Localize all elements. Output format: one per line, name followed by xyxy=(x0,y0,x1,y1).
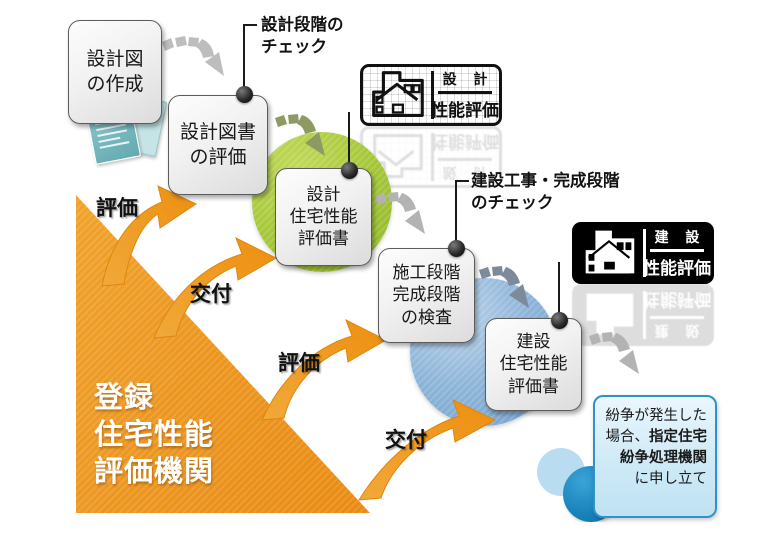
badge-rule xyxy=(438,91,491,94)
flow-label-evaluate-2: 評価 xyxy=(278,347,320,377)
badge-top-text: 建 設 xyxy=(649,321,706,341)
node-label: 設計図 の作成 xyxy=(86,47,143,96)
badge-bottom-text: 性能評価 xyxy=(431,131,499,156)
organization-label: 登録 住宅性能 評価機関 xyxy=(94,379,214,490)
info-line-1: 紛争が発生した xyxy=(603,406,707,427)
flow-label-issue-2: 交付 xyxy=(385,424,427,454)
callout-construction-stage-check: 建設工事・完成段階 のチェック xyxy=(471,170,620,215)
callout-3-leader-horizontal xyxy=(455,180,469,182)
info-line-3: 紛争処理機関 xyxy=(603,448,707,469)
callout-4-dot xyxy=(551,312,568,329)
badge-bottom-text: 性能評価 xyxy=(643,289,711,314)
house-glyph-icon xyxy=(363,67,431,123)
dispute-resolution-info-box: 紛争が発生した 場合、指定住宅 紛争処理機関 に申し立て xyxy=(593,395,717,518)
house-glyph-icon xyxy=(575,225,643,281)
callout-3-dot xyxy=(448,240,465,257)
node-create-drawings[interactable]: 設計図 の作成 xyxy=(68,20,162,124)
flow-arrow-1-icon xyxy=(156,28,230,100)
callout-1-dot xyxy=(236,86,253,103)
construction-performance-badge: 建 設 性能評価 xyxy=(572,222,714,284)
node-label: 建設 住宅性能 評価書 xyxy=(500,331,568,397)
callout-2-dot xyxy=(341,162,358,179)
node-label: 設計 住宅性能 評価書 xyxy=(290,184,358,250)
diagram-canvas: 設 計 性能評価 建 設 性能評価 登録 住宅性能 評価機関 xyxy=(0,0,770,538)
node-evaluate-drawings[interactable]: 設計図書 の評価 xyxy=(168,95,268,195)
badge-rule xyxy=(650,249,703,252)
badge-bottom-text: 性能評価 xyxy=(431,96,499,121)
node-design-certificate[interactable]: 設計 住宅性能 評価書 xyxy=(275,168,372,266)
issue-arrow-2-icon xyxy=(355,398,515,508)
node-label: 設計図書 の評価 xyxy=(180,120,256,169)
flow-arrow-5-icon xyxy=(586,328,652,400)
design-performance-badge: 設 計 性能評価 xyxy=(360,64,502,126)
badge-house-area xyxy=(575,225,643,281)
node-construction-inspection[interactable]: 施工段階 完成段階 の検査 xyxy=(378,248,475,343)
flow-label-issue-1: 交付 xyxy=(190,278,232,308)
info-line-2a: 場合、 xyxy=(606,429,650,445)
badge-top-text: 設 計 xyxy=(437,69,494,89)
badge-bottom-text: 性能評価 xyxy=(643,254,711,279)
info-line-2: 場合、指定住宅 xyxy=(603,427,707,448)
flow-label-evaluate-1: 評価 xyxy=(96,192,138,222)
node-label: 施工段階 完成段階 の検査 xyxy=(393,262,461,328)
callout-design-stage-check: 設計段階の チェック xyxy=(261,14,344,59)
callout-1-leader-vertical xyxy=(243,24,245,94)
info-line-2b: 指定住宅 xyxy=(649,429,707,445)
callout-3-leader-vertical xyxy=(455,180,457,248)
badge-house-area xyxy=(363,67,431,123)
callout-1-leader-horizontal xyxy=(243,24,257,26)
node-construction-certificate[interactable]: 建設 住宅性能 評価書 xyxy=(485,318,582,411)
badge-top-text: 建 設 xyxy=(649,227,706,247)
info-line-4: に申し立て xyxy=(603,469,707,490)
